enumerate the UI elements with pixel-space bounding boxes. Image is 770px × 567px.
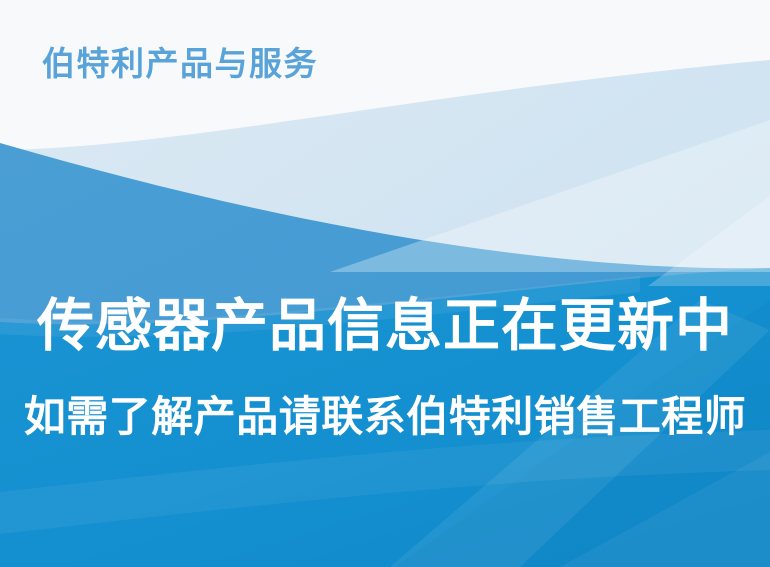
- notice-message-block: 传感器产品信息正在更新中 如需了解产品请联系伯特利销售工程师: [0, 295, 770, 440]
- page-title: 伯特利产品与服务: [42, 46, 318, 82]
- background-pale-band-art: [0, 0, 770, 567]
- notice-main-headline: 传感器产品信息正在更新中: [0, 295, 770, 359]
- product-service-banner: 伯特利产品与服务 传感器产品信息正在更新中 如需了解产品请联系伯特利销售工程师: [0, 0, 770, 567]
- notice-sub-headline: 如需了解产品请联系伯特利销售工程师: [0, 393, 770, 440]
- background-deep-blue-art: [0, 0, 770, 567]
- background-facet-overlay-art: [0, 0, 770, 567]
- background-mid-blue-wedge-art: [0, 0, 770, 567]
